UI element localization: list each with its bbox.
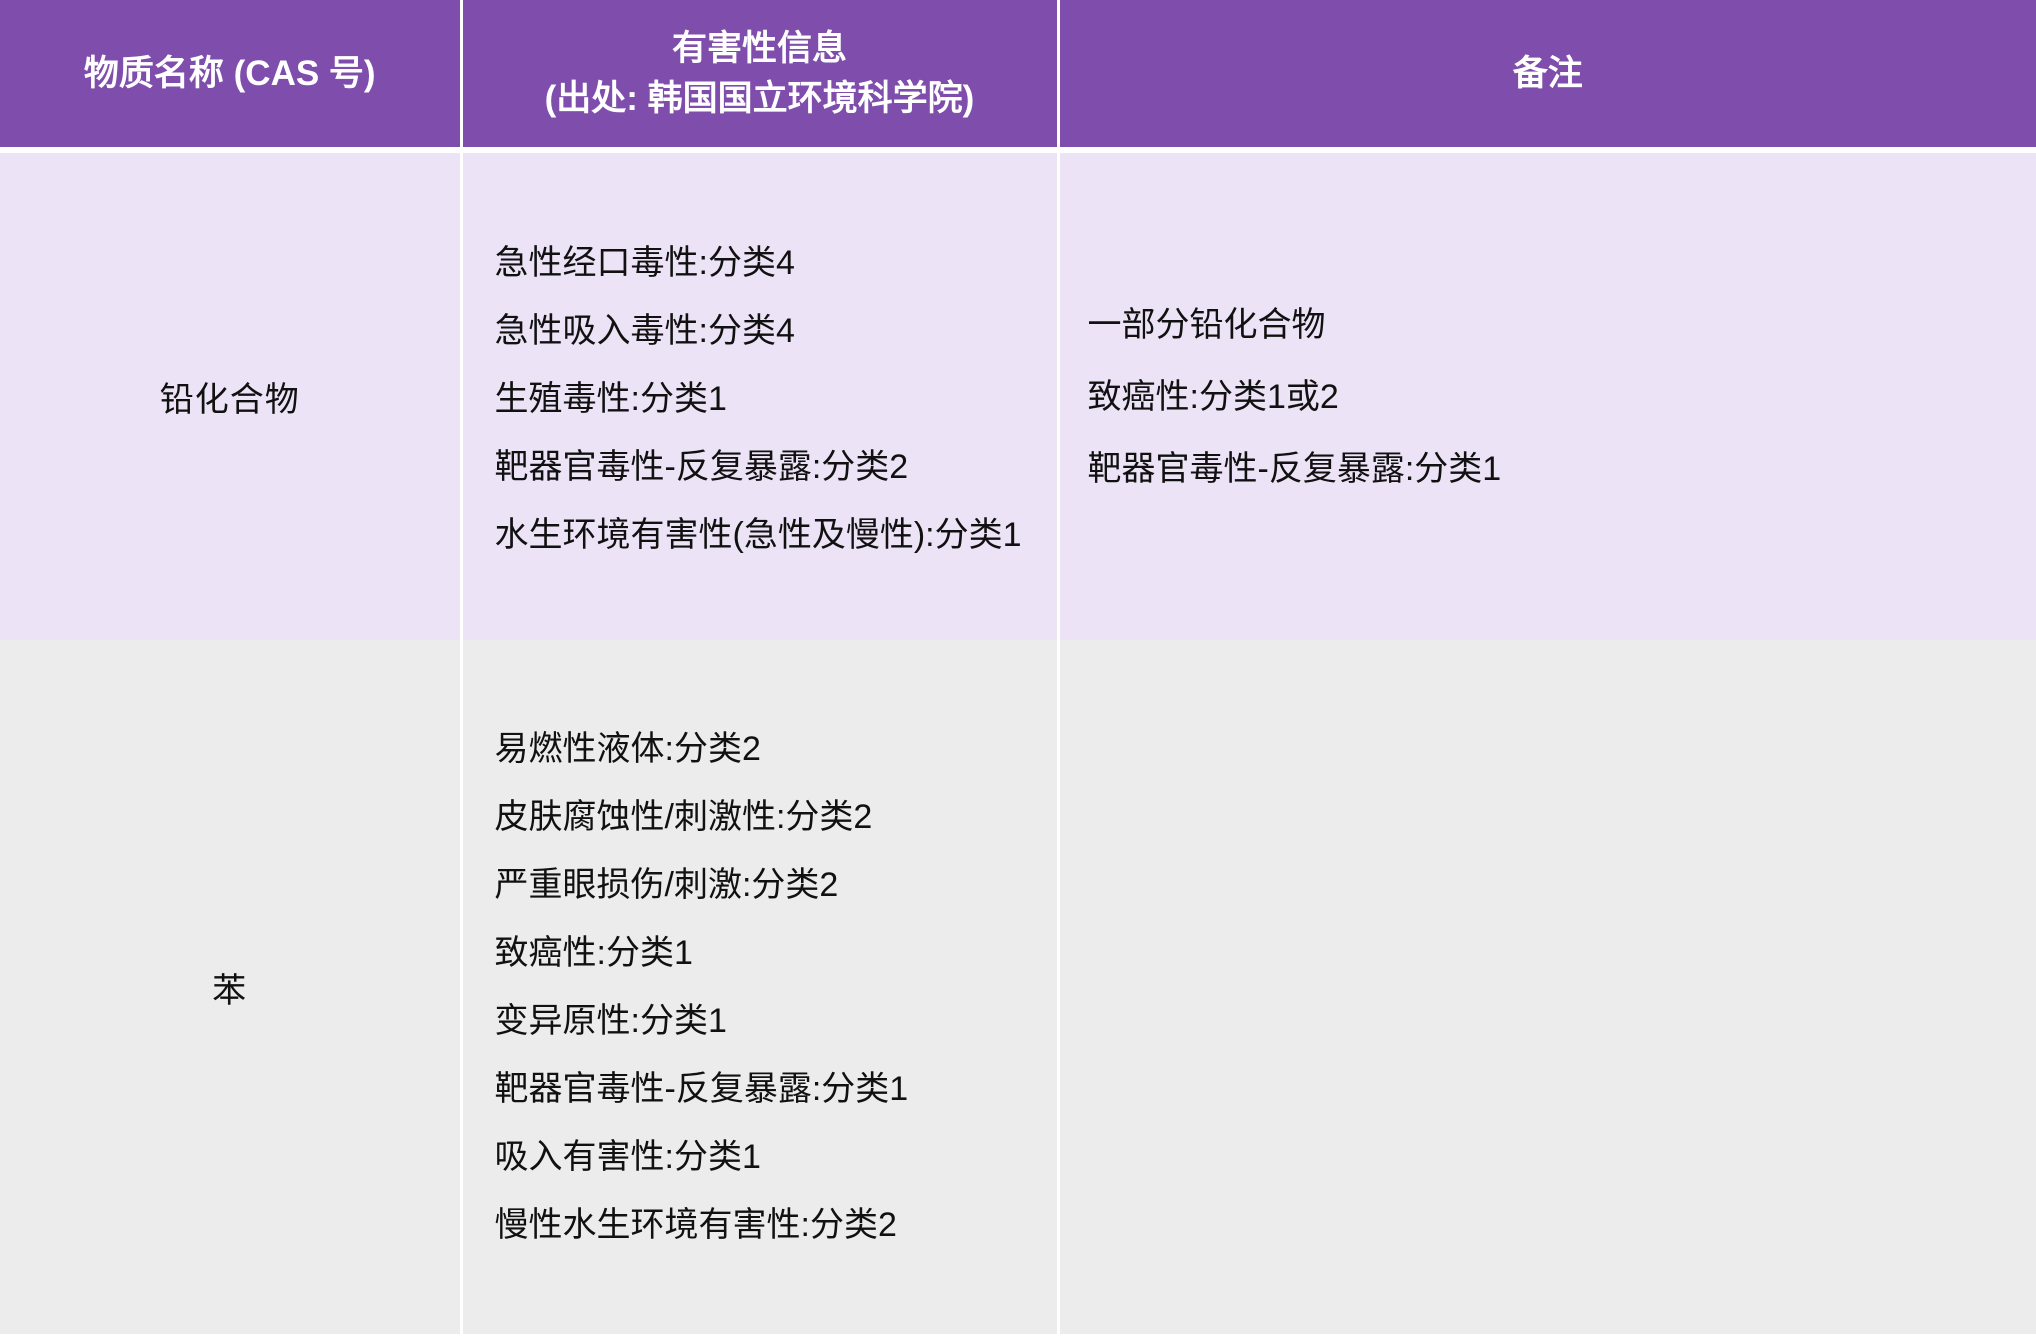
hazard-list-item: 水生环境有害性(急性及慢性):分类1 — [495, 501, 1057, 569]
column-header-remark-label: 备注 — [1074, 49, 2023, 99]
cell-substance-name: 苯 — [0, 640, 461, 1334]
table-header: 物质名称 (CAS 号) 有害性信息 (出处: 韩国国立环境科学院) 备注 — [0, 0, 2036, 150]
table-header-row: 物质名称 (CAS 号) 有害性信息 (出处: 韩国国立环境科学院) 备注 — [0, 0, 2036, 150]
cell-hazard-info: 急性经口毒性:分类4 急性吸入毒性:分类4 生殖毒性:分类1 靶器官毒性-反复暴… — [461, 150, 1058, 640]
hazard-information-table: 物质名称 (CAS 号) 有害性信息 (出处: 韩国国立环境科学院) 备注 铅化… — [0, 0, 2036, 1334]
hazard-list-item: 靶器官毒性-反复暴露:分类2 — [495, 433, 1057, 501]
remark-list — [1088, 640, 2036, 1334]
substance-name-label: 铅化合物 — [160, 381, 300, 419]
cell-hazard-info: 易燃性液体:分类2 皮肤腐蚀性/刺激性:分类2 严重眼损伤/刺激:分类2 致癌性… — [461, 640, 1058, 1334]
remark-list-item: 一部分铅化合物 — [1088, 289, 2036, 361]
hazard-list-item: 急性经口毒性:分类4 — [495, 229, 1057, 297]
hazard-list: 易燃性液体:分类2 皮肤腐蚀性/刺激性:分类2 严重眼损伤/刺激:分类2 致癌性… — [495, 640, 1057, 1334]
table-row: 铅化合物 急性经口毒性:分类4 急性吸入毒性:分类4 生殖毒性:分类1 靶器官毒… — [0, 150, 2036, 640]
hazard-list-item: 皮肤腐蚀性/刺激性:分类2 — [495, 783, 1057, 851]
column-header-remark: 备注 — [1058, 0, 2036, 150]
table-body: 铅化合物 急性经口毒性:分类4 急性吸入毒性:分类4 生殖毒性:分类1 靶器官毒… — [0, 150, 2036, 1334]
cell-remark — [1058, 640, 2036, 1334]
hazard-list-item: 慢性水生环境有害性:分类2 — [495, 1191, 1057, 1259]
column-header-substance-name: 物质名称 (CAS 号) — [0, 0, 461, 150]
hazard-list-item: 生殖毒性:分类1 — [495, 365, 1057, 433]
hazard-list-item: 严重眼损伤/刺激:分类2 — [495, 851, 1057, 919]
remark-list-item: 致癌性:分类1或2 — [1088, 361, 2036, 433]
hazard-list: 急性经口毒性:分类4 急性吸入毒性:分类4 生殖毒性:分类1 靶器官毒性-反复暴… — [495, 153, 1057, 642]
column-header-hazard-info-source: (出处: 韩国国立环境科学院) — [477, 74, 1043, 124]
remark-list-item: 靶器官毒性-反复暴露:分类1 — [1088, 433, 2036, 505]
table-row: 苯 易燃性液体:分类2 皮肤腐蚀性/刺激性:分类2 严重眼损伤/刺激:分类2 致… — [0, 640, 2036, 1334]
hazard-list-item: 致癌性:分类1 — [495, 919, 1057, 987]
hazard-list-item: 变异原性:分类1 — [495, 987, 1057, 1055]
remark-list: 一部分铅化合物 致癌性:分类1或2 靶器官毒性-反复暴露:分类1 — [1088, 153, 2036, 640]
column-header-substance-name-label: 物质名称 (CAS 号) — [14, 49, 446, 99]
hazard-list-item: 急性吸入毒性:分类4 — [495, 297, 1057, 365]
hazard-list-item: 易燃性液体:分类2 — [495, 715, 1057, 783]
column-header-hazard-info-title: 有害性信息 — [477, 24, 1043, 74]
column-header-hazard-info: 有害性信息 (出处: 韩国国立环境科学院) — [461, 0, 1058, 150]
hazard-table-sheet: EMTEK 物质名称 (CAS 号) 有害性信息 (出处: 韩国国立环境科学院)… — [0, 0, 2036, 1339]
hazard-list-item: 吸入有害性:分类1 — [495, 1123, 1057, 1191]
substance-name-label: 苯 — [212, 972, 247, 1010]
cell-remark: 一部分铅化合物 致癌性:分类1或2 靶器官毒性-反复暴露:分类1 — [1058, 150, 2036, 640]
hazard-list-item: 靶器官毒性-反复暴露:分类1 — [495, 1055, 1057, 1123]
cell-substance-name: 铅化合物 — [0, 150, 461, 640]
